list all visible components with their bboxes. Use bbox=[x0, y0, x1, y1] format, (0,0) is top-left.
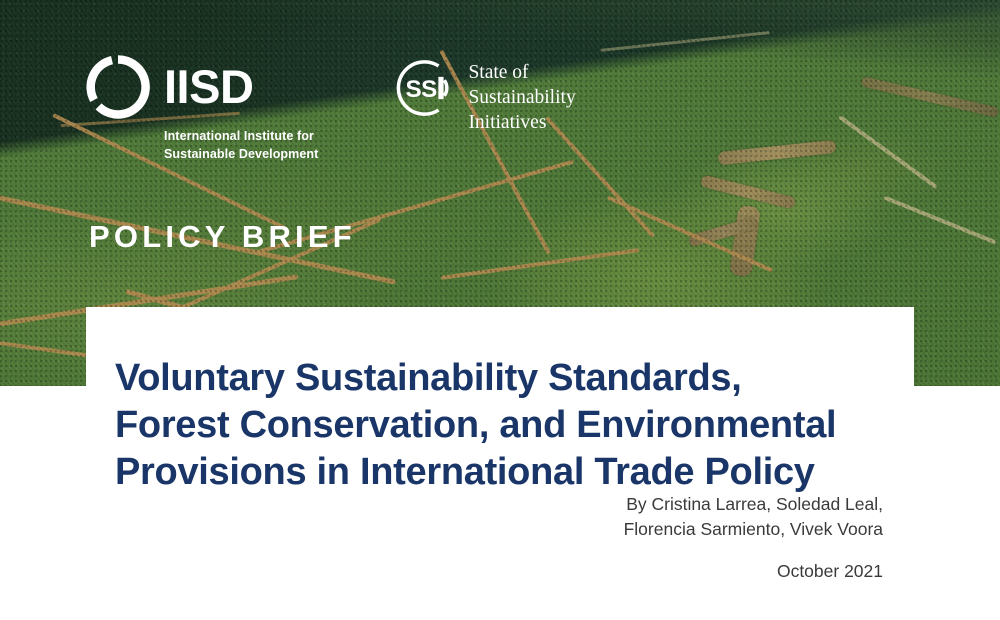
iisd-tagline: International Institute for Sustainable … bbox=[164, 128, 318, 164]
ssi-logo: SS State of Sustainability Initiatives bbox=[394, 55, 575, 135]
iisd-ring-icon bbox=[86, 55, 150, 119]
publication-date: October 2021 bbox=[363, 559, 883, 584]
byline-block: By Cristina Larrea, Soledad Leal, Floren… bbox=[363, 492, 883, 584]
document-kicker: POLICY BRIEF bbox=[89, 221, 356, 252]
iisd-lockup-top: IISD bbox=[86, 55, 318, 119]
ssi-circle-icon: SS bbox=[394, 57, 456, 119]
iisd-logo: IISD International Institute for Sustain… bbox=[86, 55, 318, 164]
svg-text:SS: SS bbox=[406, 76, 438, 103]
ssi-wordmark: State of Sustainability Initiatives bbox=[468, 57, 575, 135]
iisd-wordmark: IISD bbox=[164, 65, 253, 108]
author-byline: By Cristina Larrea, Soledad Leal, Floren… bbox=[363, 492, 883, 542]
logo-row: IISD International Institute for Sustain… bbox=[86, 55, 576, 164]
policy-brief-cover: IISD International Institute for Sustain… bbox=[0, 0, 1000, 620]
page-title: Voluntary Sustainability Standards, Fore… bbox=[115, 355, 905, 496]
